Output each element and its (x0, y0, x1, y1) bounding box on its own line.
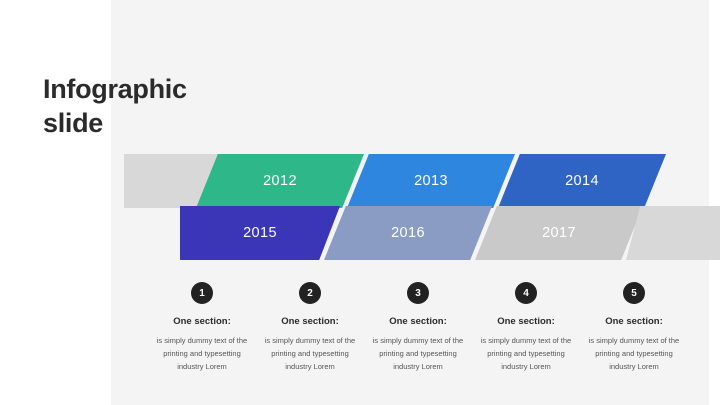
marker-badge-1: 1 (191, 282, 213, 304)
chevron-segment-2013[interactable]: 2013 (347, 154, 515, 208)
chevron-label-2013: 2013 (414, 173, 448, 189)
list-item[interactable]: 3 One section: is simply dummy text of t… (364, 282, 472, 373)
chevron-label-2014: 2014 (565, 173, 599, 189)
page-title: Infographic slide (43, 72, 283, 140)
page-title-line-1: Infographic (43, 72, 283, 106)
marker-badge-5: 5 (623, 282, 645, 304)
item-body-1: is simply dummy text of the printing and… (154, 334, 250, 373)
page-title-line-2: slide (43, 106, 283, 140)
caption-list: 1 One section: is simply dummy text of t… (148, 282, 688, 373)
chevron-segment-2014[interactable]: 2014 (498, 154, 666, 208)
item-title-1: One section: (173, 316, 231, 327)
list-item[interactable]: 4 One section: is simply dummy text of t… (472, 282, 580, 373)
chevron-segment-2012[interactable]: 2012 (196, 154, 364, 208)
marker-badge-2: 2 (299, 282, 321, 304)
list-item[interactable]: 2 One section: is simply dummy text of t… (256, 282, 364, 373)
item-title-4: One section: (497, 316, 555, 327)
list-item[interactable]: 5 One section: is simply dummy text of t… (580, 282, 688, 373)
item-title-2: One section: (281, 316, 339, 327)
item-body-3: is simply dummy text of the printing and… (370, 334, 466, 373)
chevron-segment-2017[interactable]: 2017 (475, 206, 643, 260)
slide-root: Infographic slide 2012 2013 2014 2015 20… (0, 0, 720, 405)
item-title-3: One section: (389, 316, 447, 327)
chevron-segment-2015[interactable]: 2015 (180, 206, 340, 260)
chevron-label-2016: 2016 (391, 225, 425, 241)
chevron-segment-placeholder-right (626, 206, 720, 260)
item-body-5: is simply dummy text of the printing and… (586, 334, 682, 373)
item-body-4: is simply dummy text of the printing and… (478, 334, 574, 373)
chevron-label-2012: 2012 (263, 173, 297, 189)
list-item[interactable]: 1 One section: is simply dummy text of t… (148, 282, 256, 373)
item-title-5: One section: (605, 316, 663, 327)
chevron-segment-2016[interactable]: 2016 (324, 206, 492, 260)
marker-badge-4: 4 (515, 282, 537, 304)
marker-badge-3: 3 (407, 282, 429, 304)
chevron-label-2017: 2017 (542, 225, 576, 241)
item-body-2: is simply dummy text of the printing and… (262, 334, 358, 373)
chevron-label-2015: 2015 (243, 225, 277, 241)
